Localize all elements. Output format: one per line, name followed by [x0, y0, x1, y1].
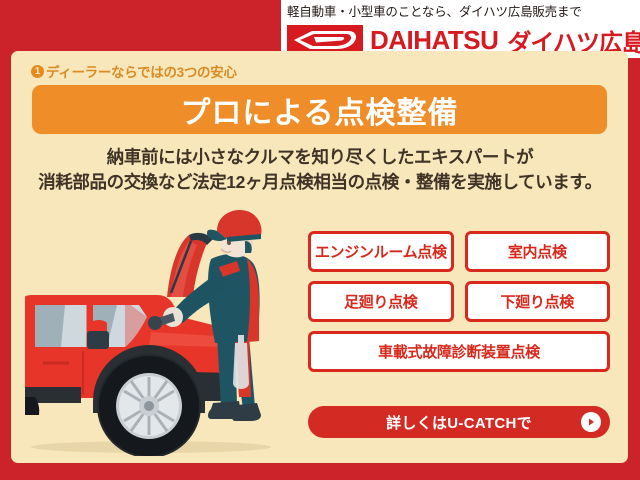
- u-catch-cta-button[interactable]: 詳しくはU-CATCHで: [308, 406, 610, 438]
- mechanic-inspecting-car-illustration: [21, 201, 311, 456]
- inspection-items-row-3: 車載式故障診断装置点検: [308, 331, 610, 372]
- inspection-item-label: 室内点検: [508, 241, 567, 262]
- inspection-item-engine-room[interactable]: エンジンルーム点検: [308, 231, 454, 272]
- eyebrow: 1 ディーラーならではの3つの安心: [31, 61, 237, 81]
- eyebrow-label: ディーラーならではの3つの安心: [46, 61, 237, 81]
- inspection-items-list: エンジンルーム点検 室内点検 足廻り点検 下廻り点検 車載式故障診断装置点検: [308, 231, 610, 381]
- inspection-items-row-2: 足廻り点検 下廻り点検: [308, 281, 610, 322]
- description-block: 納車前には小さなクルマを知り尽くしたエキスパートが 消耗部品の交換など法定12ヶ…: [31, 145, 609, 195]
- header-brand-block: 軽自動車・小型車のことなら、ダイハツ広島販売まで DAIHATSU ダイハツ広島…: [281, 0, 640, 58]
- header-tagline: 軽自動車・小型車のことなら、ダイハツ広島販売まで: [287, 3, 636, 21]
- u-catch-cta-label: 詳しくはU-CATCHで: [386, 412, 532, 433]
- inspection-item-suspension[interactable]: 足廻り点検: [308, 281, 454, 322]
- description-line-1: 納車前には小さなクルマを知り尽くしたエキスパートが: [31, 145, 609, 170]
- play-arrow-circle-icon: [581, 412, 601, 432]
- description-line-2: 消耗部品の交換など法定12ヶ月点検相当の点検・整備を実施しています。: [31, 170, 609, 195]
- section-title-banner: プロによる点検整備: [32, 85, 607, 134]
- inspection-item-label: 車載式故障診断装置点検: [378, 341, 540, 362]
- inspection-item-underbody[interactable]: 下廻り点検: [465, 281, 611, 322]
- inspection-item-label: 足廻り点検: [344, 291, 418, 312]
- promo-banner: 軽自動車・小型車のことなら、ダイハツ広島販売まで DAIHATSU ダイハツ広島…: [0, 0, 640, 480]
- inspection-item-label: 下廻り点検: [500, 291, 574, 312]
- inspection-item-label: エンジンルーム点検: [315, 241, 447, 262]
- inspection-items-row-1: エンジンルーム点検 室内点検: [308, 231, 610, 272]
- inspection-item-interior[interactable]: 室内点検: [465, 231, 611, 272]
- content-panel: 1 ディーラーならではの3つの安心 プロによる点検整備 納車前には小さなクルマを…: [11, 51, 628, 463]
- inspection-item-obd-diagnostics[interactable]: 車載式故障診断装置点検: [308, 331, 610, 372]
- page-title: プロによる点検整備: [180, 88, 458, 132]
- number-badge-icon: 1: [31, 65, 44, 78]
